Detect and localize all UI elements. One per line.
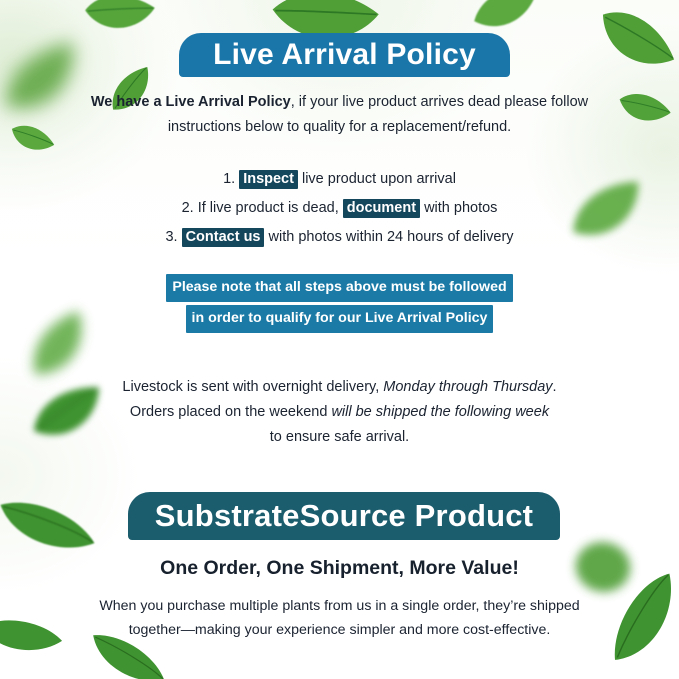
policy-note-line-2: in order to qualify for our Live Arrival… bbox=[186, 305, 494, 333]
step-text-after: with photos within 24 hours of delivery bbox=[264, 229, 513, 245]
policy-note-row-1: Please note that all steps above must be… bbox=[0, 274, 679, 302]
shipping-schedule-paragraph: Livestock is sent with overnight deliver… bbox=[0, 375, 679, 450]
bundling-paragraph: When you purchase multiple plants from u… bbox=[0, 594, 679, 642]
shipping-line-2-a: Orders placed on the weekend bbox=[130, 404, 332, 420]
intro-bold-lead: We have a Live Arrival Policy bbox=[91, 94, 291, 110]
step-highlight: Contact us bbox=[182, 228, 265, 247]
substrate-source-product-title: SubstrateSource Product bbox=[155, 498, 533, 534]
step-highlight: document bbox=[343, 199, 420, 218]
step-highlight: Inspect bbox=[239, 170, 298, 189]
step-number: 2. bbox=[182, 200, 194, 216]
step-text-before: If live product is dead, bbox=[198, 200, 343, 216]
live-arrival-policy-title: Live Arrival Policy bbox=[213, 38, 476, 72]
list-item: 1. Inspect live product upon arrival bbox=[0, 165, 679, 194]
shipping-line-1-b: . bbox=[553, 379, 557, 395]
step-text-after: live product upon arrival bbox=[298, 171, 456, 187]
policy-steps-list: 1. Inspect live product upon arrival 2. … bbox=[0, 165, 679, 252]
shipping-line-2: Orders placed on the weekend will be shi… bbox=[0, 400, 679, 425]
policy-note-block: Please note that all steps above must be… bbox=[0, 274, 679, 336]
step-text-after: with photos bbox=[420, 200, 497, 216]
shipping-line-1-a: Livestock is sent with overnight deliver… bbox=[122, 379, 383, 395]
step-number: 3. bbox=[165, 229, 177, 245]
substrate-source-product-banner: SubstrateSource Product bbox=[128, 492, 560, 540]
intro-paragraph: We have a Live Arrival Policy, if your l… bbox=[0, 90, 679, 140]
shipping-line-2-italic: will be shipped the following week bbox=[331, 404, 549, 420]
bundling-line-2: together—making your experience simpler … bbox=[0, 618, 679, 642]
shipping-line-1-italic: Monday through Thursday bbox=[383, 379, 552, 395]
infographic-page: Live Arrival Policy We have a Live Arriv… bbox=[0, 0, 679, 679]
intro-line-2: instructions below to quality for a repl… bbox=[0, 115, 679, 140]
intro-line-1-rest: , if your live product arrives dead plea… bbox=[291, 94, 588, 110]
step-number: 1. bbox=[223, 171, 235, 187]
value-subheading: One Order, One Shipment, More Value! bbox=[0, 557, 679, 580]
intro-line-1: We have a Live Arrival Policy, if your l… bbox=[0, 90, 679, 115]
list-item: 3. Contact us with photos within 24 hour… bbox=[0, 223, 679, 252]
shipping-line-1: Livestock is sent with overnight deliver… bbox=[0, 375, 679, 400]
list-item: 2. If live product is dead, document wit… bbox=[0, 194, 679, 223]
shipping-line-3: to ensure safe arrival. bbox=[0, 425, 679, 450]
policy-note-line-1: Please note that all steps above must be… bbox=[166, 274, 512, 302]
bundling-line-1: When you purchase multiple plants from u… bbox=[0, 594, 679, 618]
policy-note-row-2: in order to qualify for our Live Arrival… bbox=[0, 305, 679, 333]
live-arrival-policy-banner: Live Arrival Policy bbox=[179, 33, 510, 77]
